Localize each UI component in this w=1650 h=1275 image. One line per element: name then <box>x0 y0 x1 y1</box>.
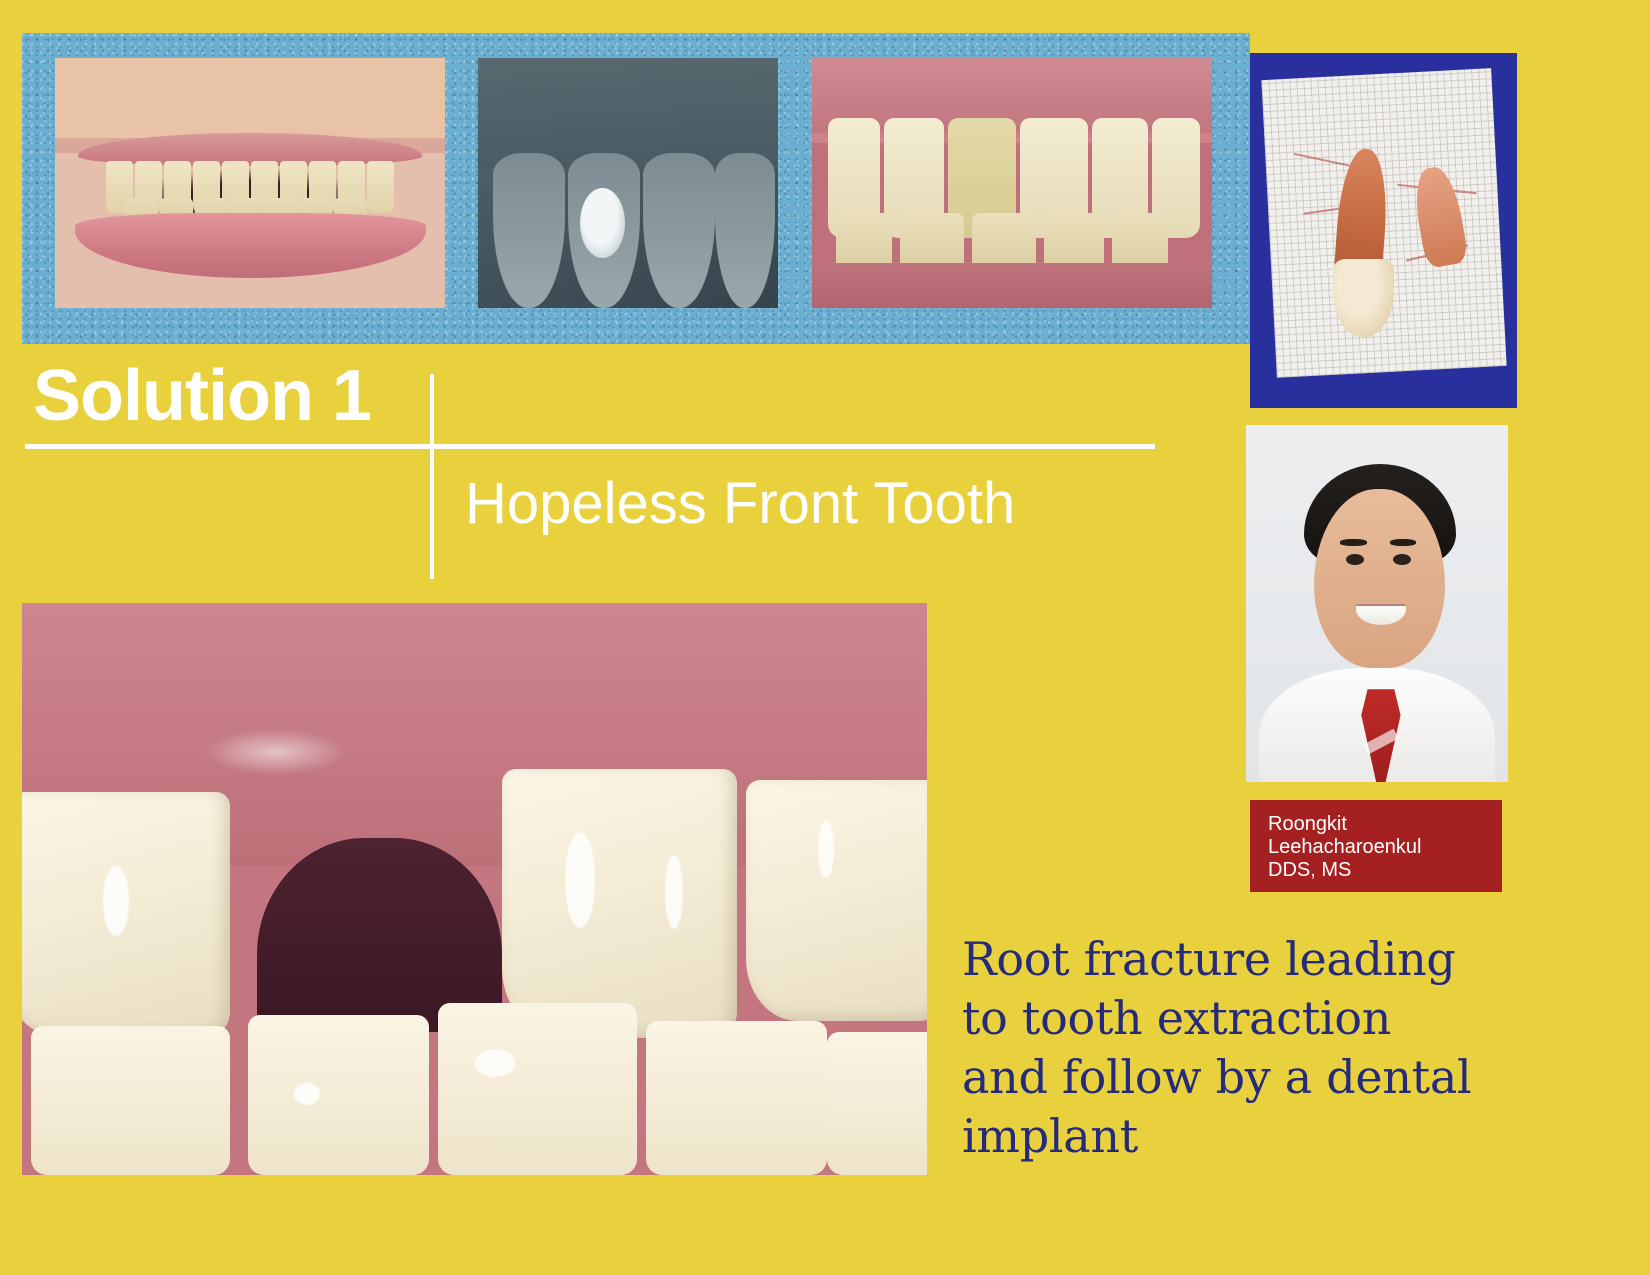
case-caption: Root fracture leading to tooth extractio… <box>962 930 1650 1166</box>
lower-tooth-1 <box>31 1026 230 1175</box>
enamel-glint <box>665 855 683 929</box>
lower-lip <box>75 213 426 278</box>
slide-canvas: Solution 1 Hopeless Front Tooth <box>0 0 1650 1275</box>
enamel-glint <box>294 1083 320 1105</box>
eye-left <box>1346 554 1364 565</box>
periapical-radiograph <box>478 58 778 308</box>
extracted-tooth-photo <box>1250 53 1517 408</box>
enamel-glint <box>565 832 595 928</box>
doctor-portrait <box>1246 425 1508 782</box>
doctor-first-name: Roongkit <box>1268 813 1502 836</box>
caption-line: to tooth extraction <box>962 989 1650 1048</box>
tooth-root-1 <box>493 153 565 308</box>
adjacent-tooth-right <box>502 769 737 1038</box>
title-block: Solution 1 Hopeless Front Tooth <box>0 352 1250 592</box>
lower-tooth-4 <box>1044 213 1104 268</box>
preoperative-smile-photo <box>55 58 445 308</box>
radiopaque-restoration <box>580 188 625 258</box>
tooth-root-4 <box>715 153 775 308</box>
eye-right <box>1393 554 1411 565</box>
adjacent-tooth-far-right <box>746 780 927 1020</box>
page-title: Solution 1 <box>33 360 371 432</box>
lower-gingiva <box>812 263 1212 308</box>
lower-tooth-1 <box>836 213 892 268</box>
lower-tooth-2 <box>248 1015 429 1175</box>
lower-tooth-5 <box>1112 213 1168 268</box>
lower-tooth-2 <box>900 213 964 268</box>
retracted-intraoral-photo <box>812 58 1212 308</box>
eyebrow-right <box>1390 539 1416 546</box>
photo-strip-band <box>22 33 1250 344</box>
doctor-name-plate: Roongkit Leehacharoenkul DDS, MS <box>1250 800 1502 892</box>
edentulous-site-photo <box>22 603 927 1175</box>
eyebrow-left <box>1340 539 1366 546</box>
vertical-divider <box>430 374 434 579</box>
doctor-credentials: DDS, MS <box>1268 859 1502 882</box>
face <box>1314 489 1445 668</box>
alveolar-bone-region <box>478 58 778 168</box>
caption-line: implant <box>962 1107 1650 1166</box>
tooth-root-3 <box>643 153 715 308</box>
caption-line: Root fracture leading <box>962 930 1650 989</box>
horizontal-divider <box>25 444 1155 449</box>
caption-line: and follow by a dental <box>962 1048 1650 1107</box>
lower-tooth-4 <box>646 1021 827 1175</box>
enamel-glint <box>475 1049 515 1077</box>
lower-tooth-3 <box>438 1003 637 1175</box>
lower-tooth-5 <box>827 1032 927 1175</box>
page-subtitle: Hopeless Front Tooth <box>465 474 1015 535</box>
gingiva-highlight <box>203 729 348 775</box>
lower-tooth-3 <box>972 213 1036 268</box>
doctor-last-name: Leehacharoenkul <box>1268 836 1502 859</box>
